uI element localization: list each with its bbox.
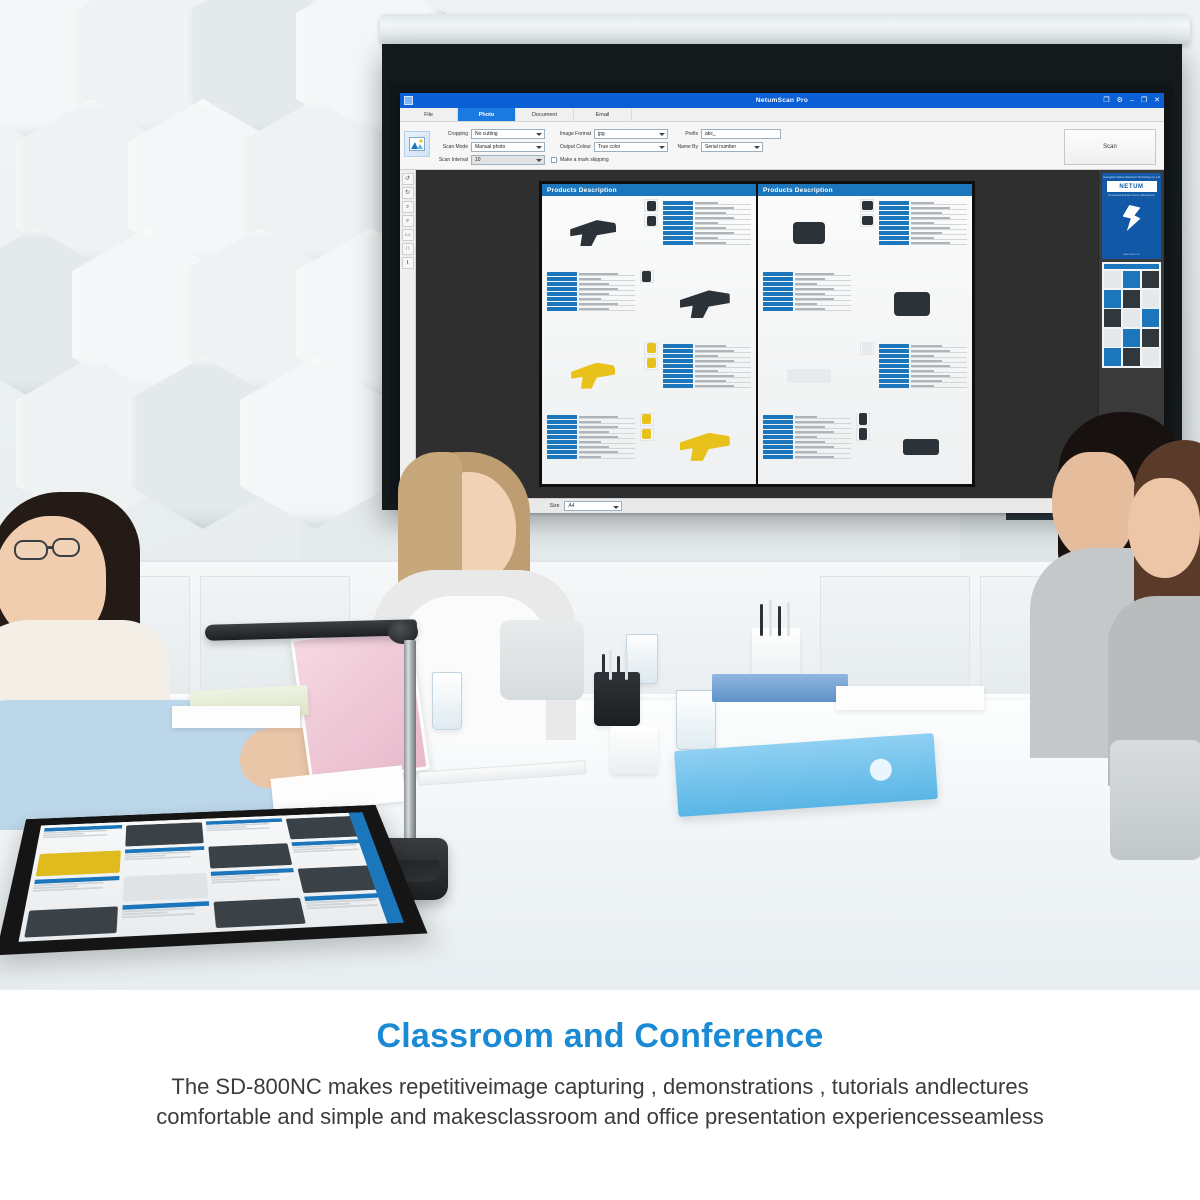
select-scan-mode[interactable]: Manual photo (471, 142, 545, 152)
catalog-on-mat (19, 812, 404, 942)
label-cropping: Cropping (436, 131, 468, 137)
paper-stack (836, 686, 984, 710)
product-spec-table (661, 342, 753, 410)
field-image-format[interactable]: Image Format jpg (551, 128, 668, 139)
binder-hole (869, 758, 892, 781)
label-size: Size (550, 503, 560, 509)
ribbon-group-format[interactable]: Image Format jpg Output Colour True colo… (551, 125, 668, 165)
product-image (856, 270, 969, 338)
window-title: NetumScan Pro (400, 97, 1164, 104)
product-spec-table (545, 413, 637, 481)
chair (1110, 740, 1200, 860)
scanner-pole (404, 640, 416, 845)
select-name-by[interactable]: Serial number (701, 142, 763, 152)
product-spec-table (545, 270, 637, 338)
product-thumbnails (860, 199, 874, 267)
scanner-application-window[interactable]: NetumScan Pro ❐ ⚙ – ❐ ✕ File Photo Docum… (400, 93, 1164, 513)
input-prefix[interactable]: abc_ (701, 129, 781, 139)
cover-company-name: Guangzhou Netum Electronic Technology Co… (1103, 176, 1160, 179)
field-prefix[interactable]: Prefix abc_ (674, 128, 781, 139)
label-name-by: Name By (674, 144, 698, 150)
product-spec-table (661, 199, 753, 267)
label-output-colour: Output Colour (551, 144, 591, 150)
select-output-colour[interactable]: True color (594, 142, 668, 152)
water-glass (432, 672, 462, 730)
tab-document[interactable]: Document (516, 108, 574, 121)
catalog-page-right: Products Description (758, 184, 972, 484)
thumbnail-page-2[interactable] (1102, 262, 1161, 368)
minimize-icon[interactable]: – (1130, 97, 1134, 104)
label-prefix: Prefix (674, 131, 698, 137)
label-image-format: Image Format (551, 131, 591, 137)
cover-website: www.netum.net (1123, 253, 1139, 256)
field-scan-mode[interactable]: Scan Mode Manual photo (436, 141, 545, 152)
catalog-page-left: Products Description (542, 184, 756, 484)
field-name-by[interactable]: Name By Serial number (674, 141, 781, 152)
label-scan-interval: Scan Interval (436, 157, 468, 163)
ribbon-toolbar[interactable]: Cropping No cutting Scan Mode Manual pho… (400, 122, 1164, 170)
zoom-in-icon[interactable]: ⌕ (402, 201, 414, 213)
tab-file[interactable]: File (400, 108, 458, 121)
rotate-right-icon[interactable]: ↻ (402, 187, 414, 199)
caption-body-line-1: The SD-800NC makes repetitiveimage captu… (70, 1072, 1130, 1102)
scanning-mat (0, 805, 428, 955)
eyeglasses (14, 540, 48, 560)
select-scan-interval[interactable]: 10 (471, 155, 545, 165)
restore-icon[interactable]: ❐ (1141, 97, 1147, 104)
product-thumbnails (640, 413, 654, 481)
select-cropping[interactable]: No cutting (471, 129, 545, 139)
caption-body-line-2: comfortable and simple and makesclassroo… (70, 1102, 1130, 1132)
caption-body: The SD-800NC makes repetitiveimage captu… (0, 1072, 1200, 1131)
projector-screen-roller (380, 14, 1190, 44)
product-thumbnails (644, 342, 658, 410)
product-image (761, 199, 857, 267)
grid-view-icon[interactable]: ∷ (402, 243, 414, 255)
scanned-catalog-page: Products Description (539, 181, 975, 487)
window-controls[interactable]: ❐ ⚙ – ❐ ✕ (1103, 97, 1160, 104)
product-image (873, 413, 969, 481)
label-scan-mode: Scan Mode (436, 144, 468, 150)
close-icon[interactable]: ✕ (1154, 97, 1160, 104)
product-image (545, 342, 641, 410)
catalog-header-left: Products Description (542, 184, 756, 196)
netum-logo: NETUM (1107, 181, 1157, 192)
pen-holder-dark (594, 672, 640, 726)
product-spec-table (761, 270, 853, 338)
scan-button[interactable]: Scan (1064, 129, 1156, 165)
tab-photo[interactable]: Photo (458, 108, 516, 121)
left-toolbar[interactable]: ↺ ↻ ⌕ ⌕ 1:1 ∷ ⭳ (400, 170, 416, 498)
cover-graphic-icon (1123, 205, 1141, 231)
ribbon-group-naming[interactable]: Prefix abc_ Name By Serial number (674, 125, 781, 152)
zoom-out-icon[interactable]: ⌕ (402, 215, 414, 227)
conference-room-photo: NetumScan Pro ❐ ⚙ – ❐ ✕ File Photo Docum… (0, 0, 1200, 990)
product-thumbnails (856, 413, 870, 481)
product-spec-table (761, 413, 853, 481)
product-spec-table (877, 199, 969, 267)
paper-stack (172, 706, 300, 728)
ribbon-group-cropping[interactable]: Cropping No cutting Scan Mode Manual pho… (436, 125, 545, 165)
caption-title: Classroom and Conference (0, 1017, 1200, 1056)
chair (500, 620, 584, 700)
settings-icon[interactable]: ⚙ (1117, 97, 1123, 104)
field-cropping[interactable]: Cropping No cutting (436, 128, 545, 139)
tab-email[interactable]: Email (574, 108, 632, 121)
field-make-mark-skipping[interactable]: Make a mark skipping (551, 154, 668, 165)
image-mode-icon[interactable] (404, 131, 430, 157)
product-image (545, 199, 641, 267)
cover-subtitle: Professional Barcode Scanner Manufacture… (1108, 194, 1155, 197)
select-size[interactable]: A4 (564, 501, 622, 511)
caption-block: Classroom and Conference The SD-800NC ma… (0, 990, 1200, 1200)
product-thumbnails (640, 270, 654, 338)
product-image (657, 413, 753, 481)
product-image (761, 342, 857, 410)
field-output-colour[interactable]: Output Colour True color (551, 141, 668, 152)
water-glass (676, 690, 716, 750)
save-image-icon[interactable]: ⭳ (402, 257, 414, 269)
label-make-mark-skipping: Make a mark skipping (560, 157, 609, 163)
field-scan-interval[interactable]: Scan Interval 10 (436, 154, 545, 165)
window-title-bar: NetumScan Pro ❐ ⚙ – ❐ ✕ (400, 93, 1164, 108)
checkbox-make-mark-skipping[interactable] (551, 157, 557, 163)
rotate-left-icon[interactable]: ↺ (402, 173, 414, 185)
catalog-header-right: Products Description (758, 184, 972, 196)
blue-folder (712, 674, 848, 702)
actual-size-icon[interactable]: 1:1 (402, 229, 414, 241)
select-image-format[interactable]: jpg (594, 129, 668, 139)
work-area: ↺ ↻ ⌕ ⌕ 1:1 ∷ ⭳ Products Description (400, 170, 1164, 498)
pen-holder-white (610, 726, 658, 774)
pen-holder-white (752, 628, 800, 680)
product-image (657, 270, 753, 338)
tab-bar[interactable]: File Photo Document Email (400, 108, 1164, 122)
product-thumbnails (644, 199, 658, 267)
product-spec-table (877, 342, 969, 410)
thumbnail-cover-page[interactable]: Guangzhou Netum Electronic Technology Co… (1102, 173, 1161, 259)
save-icon[interactable]: ❐ (1103, 97, 1109, 104)
product-thumbnails (860, 342, 874, 410)
preview-canvas[interactable]: Products Description (416, 170, 1098, 498)
